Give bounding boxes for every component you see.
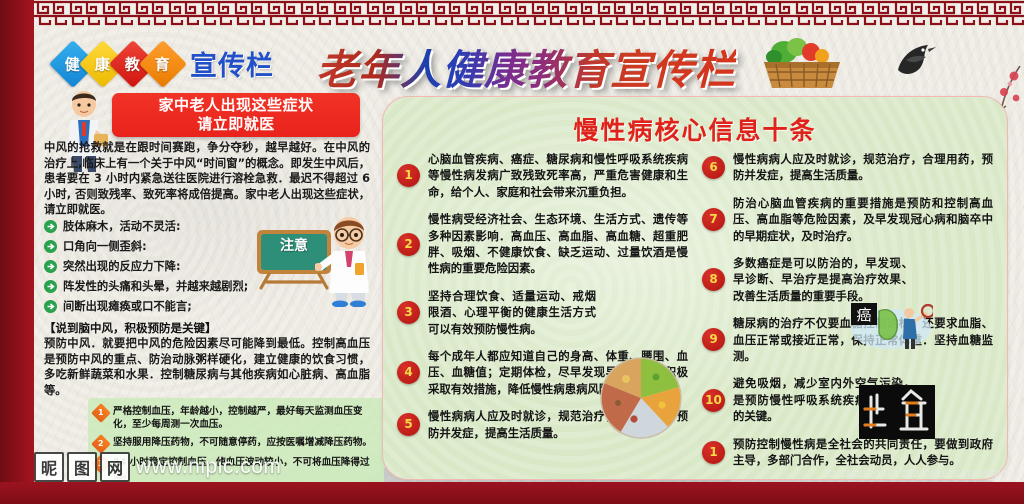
list-item: 9 糖尿病的治疗不仅要血糖控制达标，还要求血脂、血压正常或接近正常，保持正常体重… [702,315,993,364]
item-number-badge: 8 [702,268,725,291]
tip-number: 1 [98,409,104,417]
left-red-spine [0,0,34,504]
chronic-disease-panel: 慢性病核心信息十条 1 心脑血管疾病、癌症、糖尿病和慢性呼吸系统疾病等慢性病发病… [382,96,1008,480]
svg-text:癌: 癌 [856,306,871,324]
symptom-text: 口角向一侧歪斜: [63,239,147,254]
watermark-char-1: 昵 [34,452,64,482]
symptom-text: 肢体麻木，活动不灵活: [63,219,181,234]
badge-tail-label: 宣传栏 [190,44,274,83]
item-text: 预防控制慢性病是全社会的共同责任，要做到政府主导，多部门合作，全社会动员，人人参… [733,436,993,469]
arrow-right-icon [44,220,57,238]
item-text: 坚持合理饮食、适量运动、戒烟限酒、心理平衡的健康生活方式可以有效预防慢性病。 [428,288,596,337]
badge-diamond-4: 育 [139,39,187,87]
alert-line-1: 家中老人出现这些症状 [158,97,313,114]
item-number-badge: 6 [702,156,725,179]
poster-canvas: 健 康 教 育 宣传栏 老年人健康教育宣传栏 [0,0,1024,504]
item-text: 慢性病病人应及时就诊，规范治疗，合理用药，预防并发症，提高生活质量。 [733,151,993,184]
alert-line-2: 请立即就医 [197,116,275,133]
arrow-right-icon [44,300,57,318]
tip-text: 严格控制血压，年龄越小，控制越严，最好每天监测血压变化，至少每周测一次血压。 [113,405,376,431]
item-text: 多数癌症是可以防治的，早发现、早诊断、早治疗是提高治疗效果、改善生活质量的重要手… [733,255,913,304]
panel-columns: 1 心脑血管疾病、癌症、糖尿病和慢性呼吸系统疾病等慢性病发病广致残致死率高，严重… [397,151,993,480]
food-pagoda-image [598,357,684,439]
tip-number: 2 [98,440,104,448]
list-item: 2 坚持服用降压药物，不可随意停药，应按医嘱增减降压药物。 [94,436,376,451]
left-paragraph-2: 预防中风．就要把中风的危险因素尽可能降到最低。控制高血压是预防中风的重点、防治动… [44,336,370,398]
bottom-red-bar [0,482,1024,504]
item-number-badge: 1 [397,164,420,187]
watermark-char-2: 图 [67,452,97,482]
badge-char-1: 健 [65,53,80,74]
symptom-text: 阵发性的头痛和头晕，并越来越剧烈; [63,279,248,294]
doctor-illustration [315,215,377,307]
list-item: 1 预防控制慢性病是全社会的共同责任，要做到政府主导，多部门合作，全社会动员，人… [702,436,993,469]
image-id-text: ID:9303120 NO:20200616154103588000 [825,468,1018,480]
item-number-badge: 5 [397,413,420,436]
chinese-fret-border [34,0,1024,26]
list-item: 10 避免吸烟，减少室内外空气污染，是预防慢性呼吸系统疾病发生发展的关键。 [702,375,993,424]
list-item: 1 心脑血管疾病、癌症、糖尿病和慢性呼吸系统疾病等慢性病发病广致残致死率高，严重… [397,151,688,200]
watermark-logo: 昵 图 网 [34,452,130,482]
panel-column-right: 6 慢性病病人应及时就诊，规范治疗，合理用药，预防并发症，提高生活质量。 7 防… [702,151,993,480]
item-number-badge: 3 [397,301,420,324]
list-item: 3 坚持合理饮食、适量运动、戒烟限酒、心理平衡的健康生活方式可以有效预防慢性病。 [397,288,688,337]
list-item: 1 严格控制血压，年龄越小，控制越严，最好每天监测血压变化，至少每周测一次血压。 [94,405,376,431]
panel-column-left: 1 心脑血管疾病、癌症、糖尿病和慢性呼吸系统疾病等慢性病发病广致残致死率高，严重… [397,151,688,480]
arrow-right-icon [44,260,57,278]
item-number-badge: 9 [702,328,725,351]
tip-text: 坚持服用降压药物，不可随意停药，应按医嘱增减降压药物。 [113,436,372,449]
arrow-right-icon [44,280,57,298]
watermark: 昵 图 网 www.nipic.com [34,452,281,482]
tip-number-badge: 1 [91,403,111,423]
item-number-badge: 4 [397,361,420,384]
badge-char-3: 教 [125,53,140,74]
arrow-right-icon [44,240,57,258]
list-item: 6 慢性病病人应及时就诊，规范治疗，合理用药，预防并发症，提高生活质量。 [702,151,993,184]
badge-char-4: 育 [155,53,170,74]
vegetable-basket-icon [756,30,848,92]
health-education-badge: 健 康 教 育 宣传栏 [56,44,274,83]
item-text: 慢性病受经济社会、生态环境、生活方式、遗传等多种因素影响．高血压、高血脂、高血糖… [428,211,688,277]
panel-title: 慢性病核心信息十条 [383,111,1007,147]
badge-char-2: 康 [95,53,110,74]
item-text: 心脑血管疾病、癌症、糖尿病和慢性呼吸系统疾病等慢性病发病广致残致死率高，严重危害… [428,151,688,200]
item-number-badge: 10 [702,389,725,412]
list-item: 7 防治心脑血管疾病的重要措施是预防和控制高血压、高血脂等危险因素，及早发现冠心… [702,195,993,244]
life-image [859,385,935,439]
list-item: 8 多数癌症是可以防治的，早发现、早诊断、早治疗是提高治疗效果、改善生活质量的重… [702,255,993,304]
list-item: 2 慢性病受经济社会、生态环境、生活方式、遗传等多种因素影响．高血压、高血脂、高… [397,211,688,277]
item-number-badge: 1 [702,441,725,464]
item-number-badge: 2 [397,233,420,256]
tip-number-badge: 2 [91,434,111,454]
section-subheading: 【说到脑中风，积极预防是关键】 [44,320,370,336]
left-paragraph-1: 中风的抢救就是在跟时间赛跑，争分夺秒，越早越好。在中风的治疗上,临床上有一个关于… [44,140,370,218]
symptom-text: 间断出现瘫痪或口不能言; [63,299,192,314]
cancer-prevention-illustration: 癌 [849,299,933,351]
symptom-text: 突然出现的反应力下降: [63,259,181,274]
page-title: 老年人健康教育宣传栏 [316,36,736,96]
item-number-badge: 7 [702,208,725,231]
watermark-char-3: 网 [100,452,130,482]
watermark-url: www.nipic.com [136,455,281,479]
item-text: 防治心脑血管疾病的重要措施是预防和控制高血压、高血脂等危险因素，及早发现冠心病和… [733,195,993,244]
alert-banner: 家中老人出现这些症状 请立即就医 [112,93,360,137]
